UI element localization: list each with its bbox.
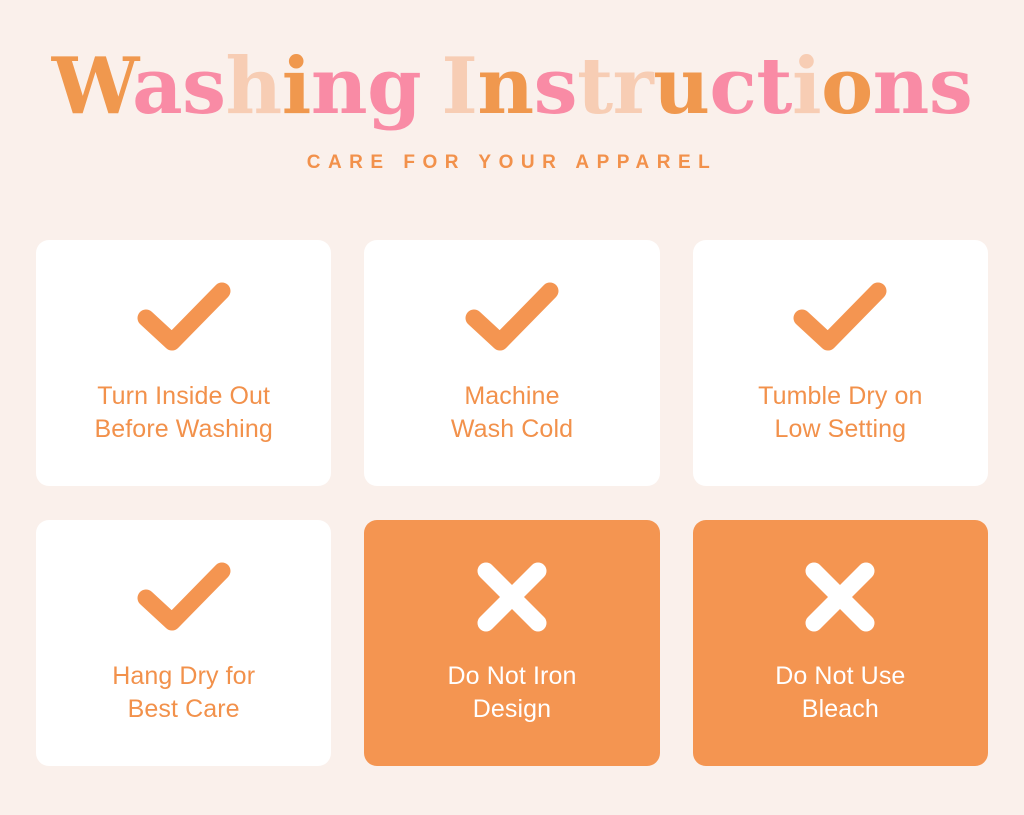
- title-letter: n: [477, 41, 533, 132]
- instruction-card[interactable]: Do Not UseBleach: [693, 520, 988, 766]
- instruction-card-label: Do Not IronDesign: [448, 660, 577, 727]
- title-letter: I: [441, 41, 477, 132]
- title-letter: t: [756, 41, 792, 132]
- instruction-card-line1: Tumble Dry on: [758, 380, 922, 414]
- title-letter: a: [132, 41, 182, 132]
- title-letter: n: [873, 41, 929, 132]
- instruction-card[interactable]: Tumble Dry onLow Setting: [693, 240, 988, 486]
- instruction-card[interactable]: Hang Dry forBest Care: [36, 520, 331, 766]
- instruction-card-label: Tumble Dry onLow Setting: [758, 380, 922, 447]
- instruction-card[interactable]: Turn Inside OutBefore Washing: [36, 240, 331, 486]
- cross-icon: [792, 556, 888, 638]
- instruction-card-line2: Bleach: [775, 693, 905, 727]
- title-letter: h: [226, 41, 282, 132]
- title-letter: W: [52, 41, 132, 132]
- page-title: WashingInstructions: [0, 48, 1024, 126]
- instruction-card-line1: Do Not Use: [775, 660, 905, 694]
- instruction-card-line1: Do Not Iron: [448, 660, 577, 694]
- instruction-card-line2: Before Washing: [94, 413, 272, 447]
- check-icon: [792, 276, 888, 358]
- instruction-card-line2: Design: [448, 693, 577, 727]
- instruction-card-line1: Hang Dry for: [112, 660, 255, 694]
- title-letter: s: [182, 41, 225, 132]
- title-letter: i: [282, 41, 311, 132]
- instruction-card-line1: Machine: [451, 380, 573, 414]
- check-icon: [136, 556, 232, 638]
- title-letter: u: [653, 41, 709, 132]
- instruction-card-label: Hang Dry forBest Care: [112, 660, 255, 727]
- title-letter: o: [821, 41, 873, 132]
- instruction-card-line1: Turn Inside Out: [94, 380, 272, 414]
- check-icon: [136, 276, 232, 358]
- instruction-card-grid: Turn Inside OutBefore WashingMachineWash…: [36, 240, 988, 766]
- check-icon: [464, 276, 560, 358]
- instruction-card-line2: Best Care: [112, 693, 255, 727]
- header: WashingInstructions CARE FOR YOUR APPARE…: [0, 0, 1024, 174]
- poster-root: WashingInstructions CARE FOR YOUR APPARE…: [0, 0, 1024, 815]
- title-letter: g: [367, 41, 421, 132]
- cross-icon: [464, 556, 560, 638]
- instruction-card-label: Do Not UseBleach: [775, 660, 905, 727]
- instruction-card-label: MachineWash Cold: [451, 380, 573, 447]
- title-letter: n: [311, 41, 367, 132]
- title-letter: i: [792, 41, 821, 132]
- instruction-card-line2: Low Setting: [758, 413, 922, 447]
- title-letter: s: [929, 41, 972, 132]
- instruction-card-label: Turn Inside OutBefore Washing: [94, 380, 272, 447]
- instruction-card[interactable]: Do Not IronDesign: [364, 520, 659, 766]
- page-subtitle: CARE FOR YOUR APPAREL: [0, 152, 1024, 174]
- title-letter: t: [577, 41, 613, 132]
- instruction-card-line2: Wash Cold: [451, 413, 573, 447]
- instruction-card[interactable]: MachineWash Cold: [364, 240, 659, 486]
- title-letter: s: [534, 41, 577, 132]
- title-letter: c: [709, 41, 756, 132]
- title-letter: r: [613, 41, 654, 132]
